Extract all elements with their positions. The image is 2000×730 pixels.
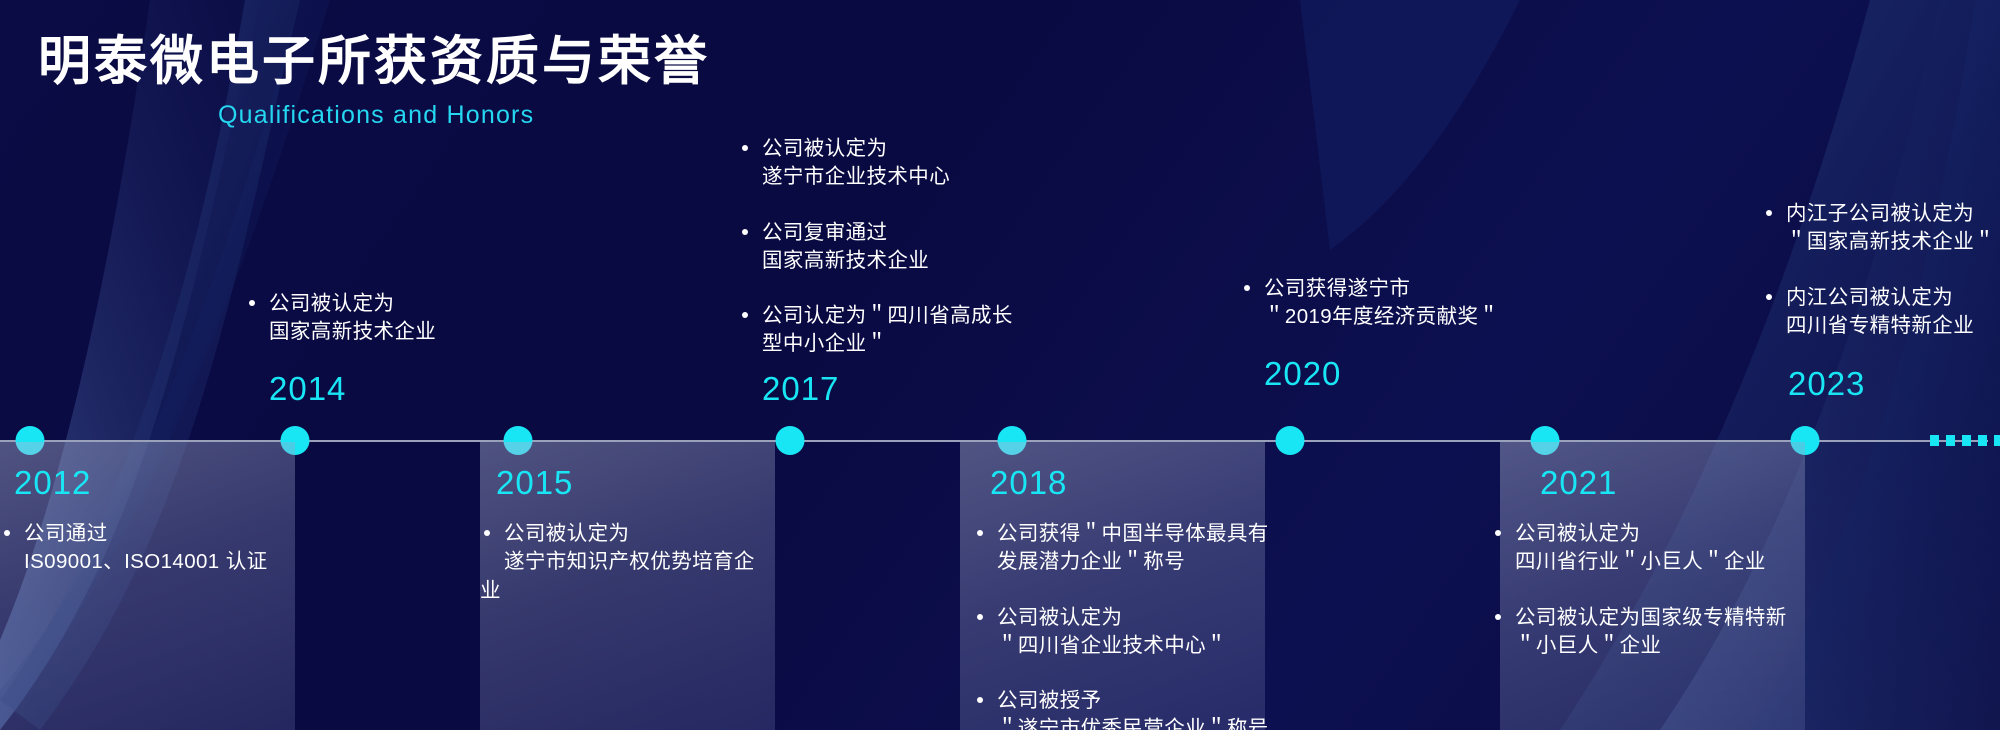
timeline-dot-2017[interactable] [776,426,805,455]
list-item: 公司被认定为 遂宁市企业技术中心 [738,135,1038,192]
year-label-2014: 2014 [269,370,346,408]
year-label-2018: 2018 [990,464,1067,502]
slide-canvas: 明泰微电子所获资质与荣誉 Qualifications and Honors 2… [0,0,2000,730]
bullet-list-2015: 公司被认定为 遂宁市知识产权优势培育企 业 [480,520,780,627]
bullet-list-2021: 公司被认定为 四川省行业＂小巨人＂企业 公司被认定为国家级专精特新 ＂小巨人＂企… [1491,520,1811,682]
bullet-line-1: 公司被授予 [997,689,1102,712]
list-item: 公司获得＂中国半导体最具有 发展潜力企业＂称号 [973,520,1273,577]
bullet-line-1: 内江子公司被认定为 [1786,202,1974,225]
bullet-line-2: 四川省专精特新企业 [1786,312,2000,340]
bullet-line-2: ＂小巨人＂企业 [1515,632,1811,660]
bullet-line-1: 公司被认定为 [504,522,629,545]
year-label-2023: 2023 [1788,365,1865,403]
bullet-line-1: 公司被认定为 [1515,522,1640,545]
list-item: 公司获得遂宁市 ＂2019年度经济贡献奖＂ [1240,275,1530,332]
timeline-group-2017: 公司被认定为 遂宁市企业技术中心 公司复审通过 国家高新技术企业 公司认定为＂四… [738,135,1038,381]
bullet-list-2014: 公司被认定为 国家高新技术企业 [245,290,525,347]
bullet-line-1: 公司被认定为国家级专精特新 [1515,606,1787,629]
bullet-line-2: 遂宁市企业技术中心 [762,163,1038,191]
list-item: 公司被认定为 遂宁市知识产权优势培育企 业 [480,520,780,605]
bullet-line-2: ＂2019年度经济贡献奖＂ [1264,303,1530,331]
timeline-panel-2015[interactable]: 2015 公司被认定为 遂宁市知识产权优势培育企 业 [480,442,775,730]
header: 明泰微电子所获资质与荣誉 Qualifications and Honors [38,32,710,130]
list-item: 公司被认定为 ＂四川省企业技术中心＂ [973,604,1273,661]
bullet-line-2: ＂遂宁市优秀民营企业＂称号 [997,715,1273,730]
timeline-axis-dashes [1930,435,2000,446]
year-label-2020: 2020 [1264,355,1341,393]
bullet-line-1: 公司复审通过 [762,221,887,244]
year-label-2015: 2015 [496,464,573,502]
bullet-line-2: ＂国家高新技术企业＂ [1786,228,2000,256]
bullet-line-2: 国家高新技术企业 [269,318,525,346]
bullet-line-2: 发展潜力企业＂称号 [997,548,1273,576]
year-label-2017: 2017 [762,370,839,408]
page-title: 明泰微电子所获资质与荣誉 [38,32,710,93]
bullet-line-1: 公司获得＂中国半导体最具有 [997,522,1269,545]
bullet-line-1: 公司被认定为 [269,292,394,315]
bullet-list-2023: 内江子公司被认定为 ＂国家高新技术企业＂ 内江公司被认定为 四川省专精特新企业 [1762,200,2000,340]
timeline-panel-2012[interactable]: 2012 公司通过 IS09001、ISO14001 认证 [0,442,295,730]
list-item: 内江公司被认定为 四川省专精特新企业 [1762,284,2000,341]
bullet-line-2: IS09001、ISO14001 认证 [24,548,295,576]
bullet-line-1: 公司被认定为 [997,606,1122,629]
bullet-line-2: ＂四川省企业技术中心＂ [997,632,1273,660]
list-item: 公司复审通过 国家高新技术企业 [738,219,1038,276]
list-item: 公司被认定为 国家高新技术企业 [245,290,525,347]
bullet-line-1: 内江公司被认定为 [1786,286,1953,309]
bullet-line-1: 公司获得遂宁市 [1264,277,1410,300]
bullet-list-2017: 公司被认定为 遂宁市企业技术中心 公司复审通过 国家高新技术企业 公司认定为＂四… [738,135,1038,359]
list-item: 公司被认定为国家级专精特新 ＂小巨人＂企业 [1491,604,1811,661]
timeline-group-2020: 公司获得遂宁市 ＂2019年度经济贡献奖＂ 2020 [1240,275,1530,354]
list-item: 公司认定为＂四川省高成长 型中小企业＂ [738,302,1038,359]
bullet-line-1: 公司认定为＂四川省高成长 [762,304,1013,327]
bullet-line-2: 遂宁市知识产权优势培育企 [504,548,780,576]
bullet-list-2020: 公司获得遂宁市 ＂2019年度经济贡献奖＂ [1240,275,1530,332]
bullet-line-1: 公司被认定为 [762,137,887,160]
timeline-dot-2020[interactable] [1276,426,1305,455]
timeline-group-2014: 公司被认定为 国家高新技术企业 2014 [245,290,525,369]
bullet-line-2: 国家高新技术企业 [762,247,1038,275]
bullet-line-3: 业 [480,577,780,605]
bullet-line-1: 公司通过 [24,522,108,545]
timeline-panel-2018[interactable]: 2018 公司获得＂中国半导体最具有 发展潜力企业＂称号 公司被认定为 ＂四川省… [960,442,1265,730]
list-item: 内江子公司被认定为 ＂国家高新技术企业＂ [1762,200,2000,257]
bullet-line-2: 型中小企业＂ [762,330,1038,358]
year-label-2021: 2021 [1540,464,1617,502]
year-label-2012: 2012 [14,464,91,502]
bullet-list-2018: 公司获得＂中国半导体最具有 发展潜力企业＂称号 公司被认定为 ＂四川省企业技术中… [973,520,1273,730]
list-item: 公司通过 IS09001、ISO14001 认证 [0,520,295,577]
list-item: 公司被认定为 四川省行业＂小巨人＂企业 [1491,520,1811,577]
timeline-panel-2021[interactable]: 2021 公司被认定为 四川省行业＂小巨人＂企业 公司被认定为国家级专精特新 ＂… [1500,442,1805,730]
timeline-group-2023: 内江子公司被认定为 ＂国家高新技术企业＂ 内江公司被认定为 四川省专精特新企业 … [1762,200,2000,362]
bullet-line-2: 四川省行业＂小巨人＂企业 [1515,548,1811,576]
bullet-list-2012: 公司通过 IS09001、ISO14001 认证 [0,520,295,599]
list-item: 公司被授予 ＂遂宁市优秀民营企业＂称号 [973,687,1273,730]
page-subtitle: Qualifications and Honors [218,101,710,130]
